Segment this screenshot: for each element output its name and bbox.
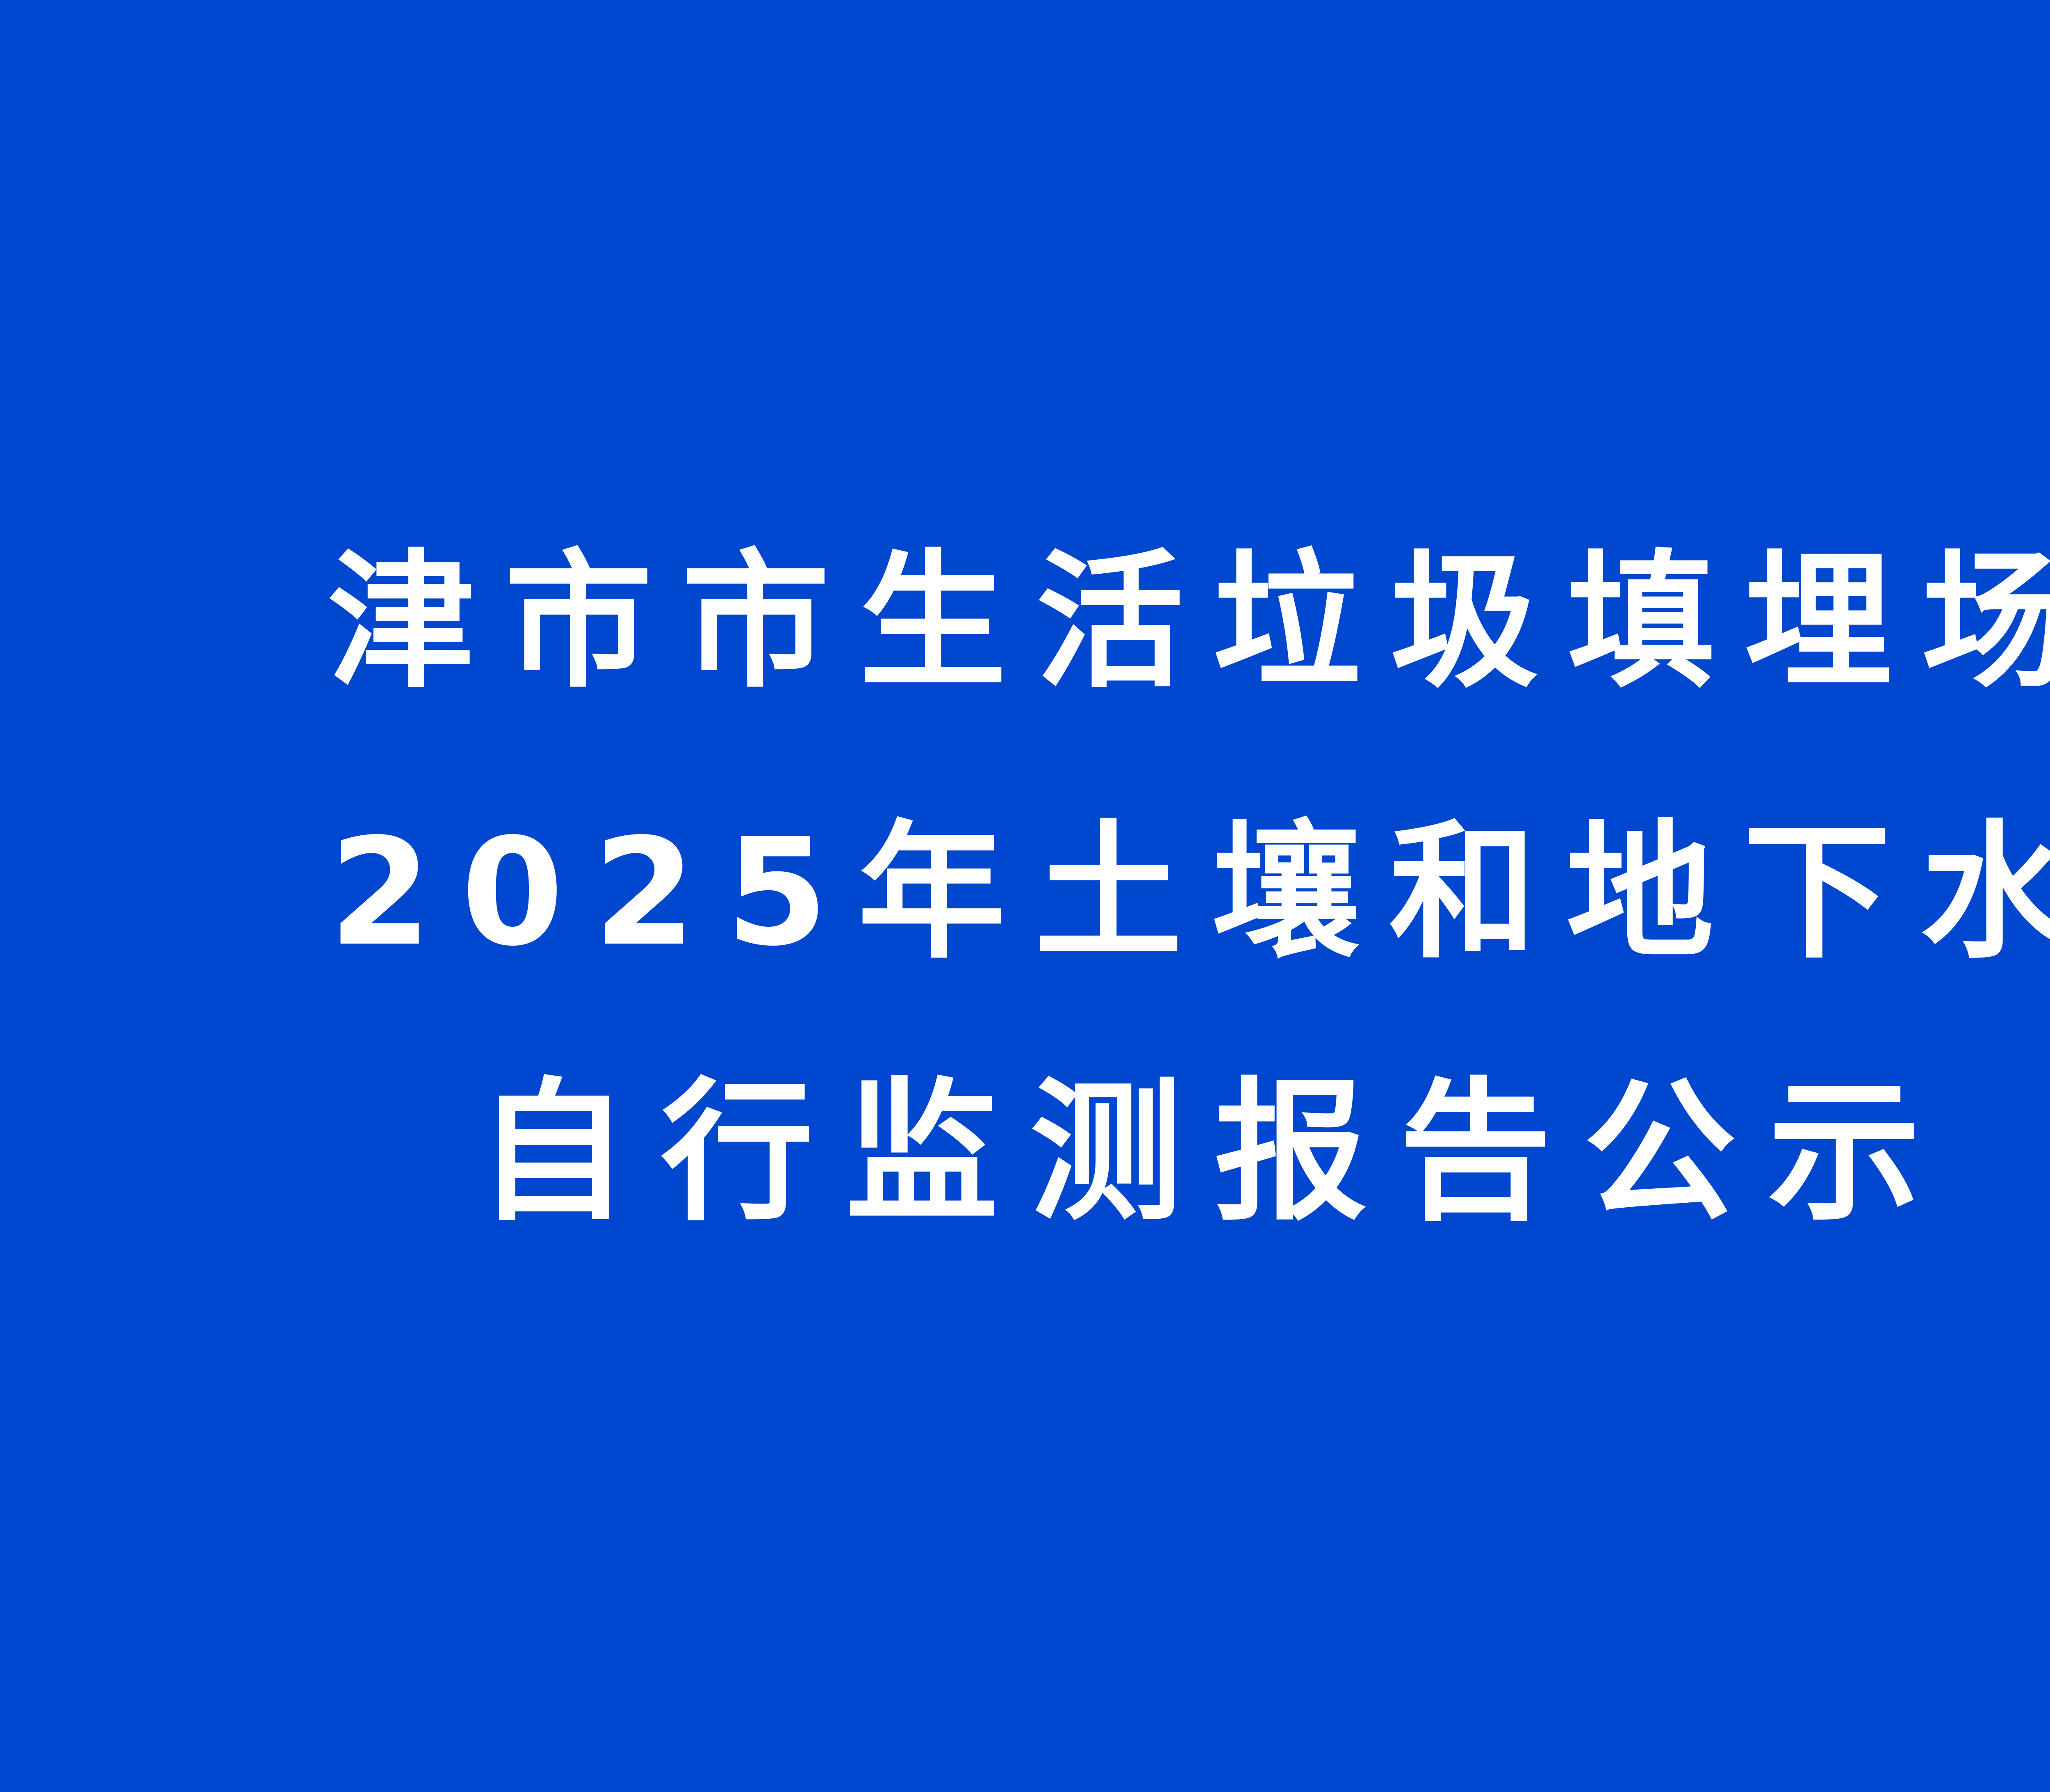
title-line-document-type: 自行监测报告公示: [0, 1076, 2050, 1229]
announcement-title-block: 津市市生活垃圾填埋场 2025年土壤和地下水 自行监测报告公示: [0, 548, 2050, 1229]
title-line-organization: 津市市生活垃圾填埋场: [0, 548, 2050, 696]
poster-canvas: 津市市生活垃圾填埋场 2025年土壤和地下水 自行监测报告公示: [0, 0, 2050, 1792]
title-line-subject: 2025年土壤和地下水: [0, 819, 2050, 967]
